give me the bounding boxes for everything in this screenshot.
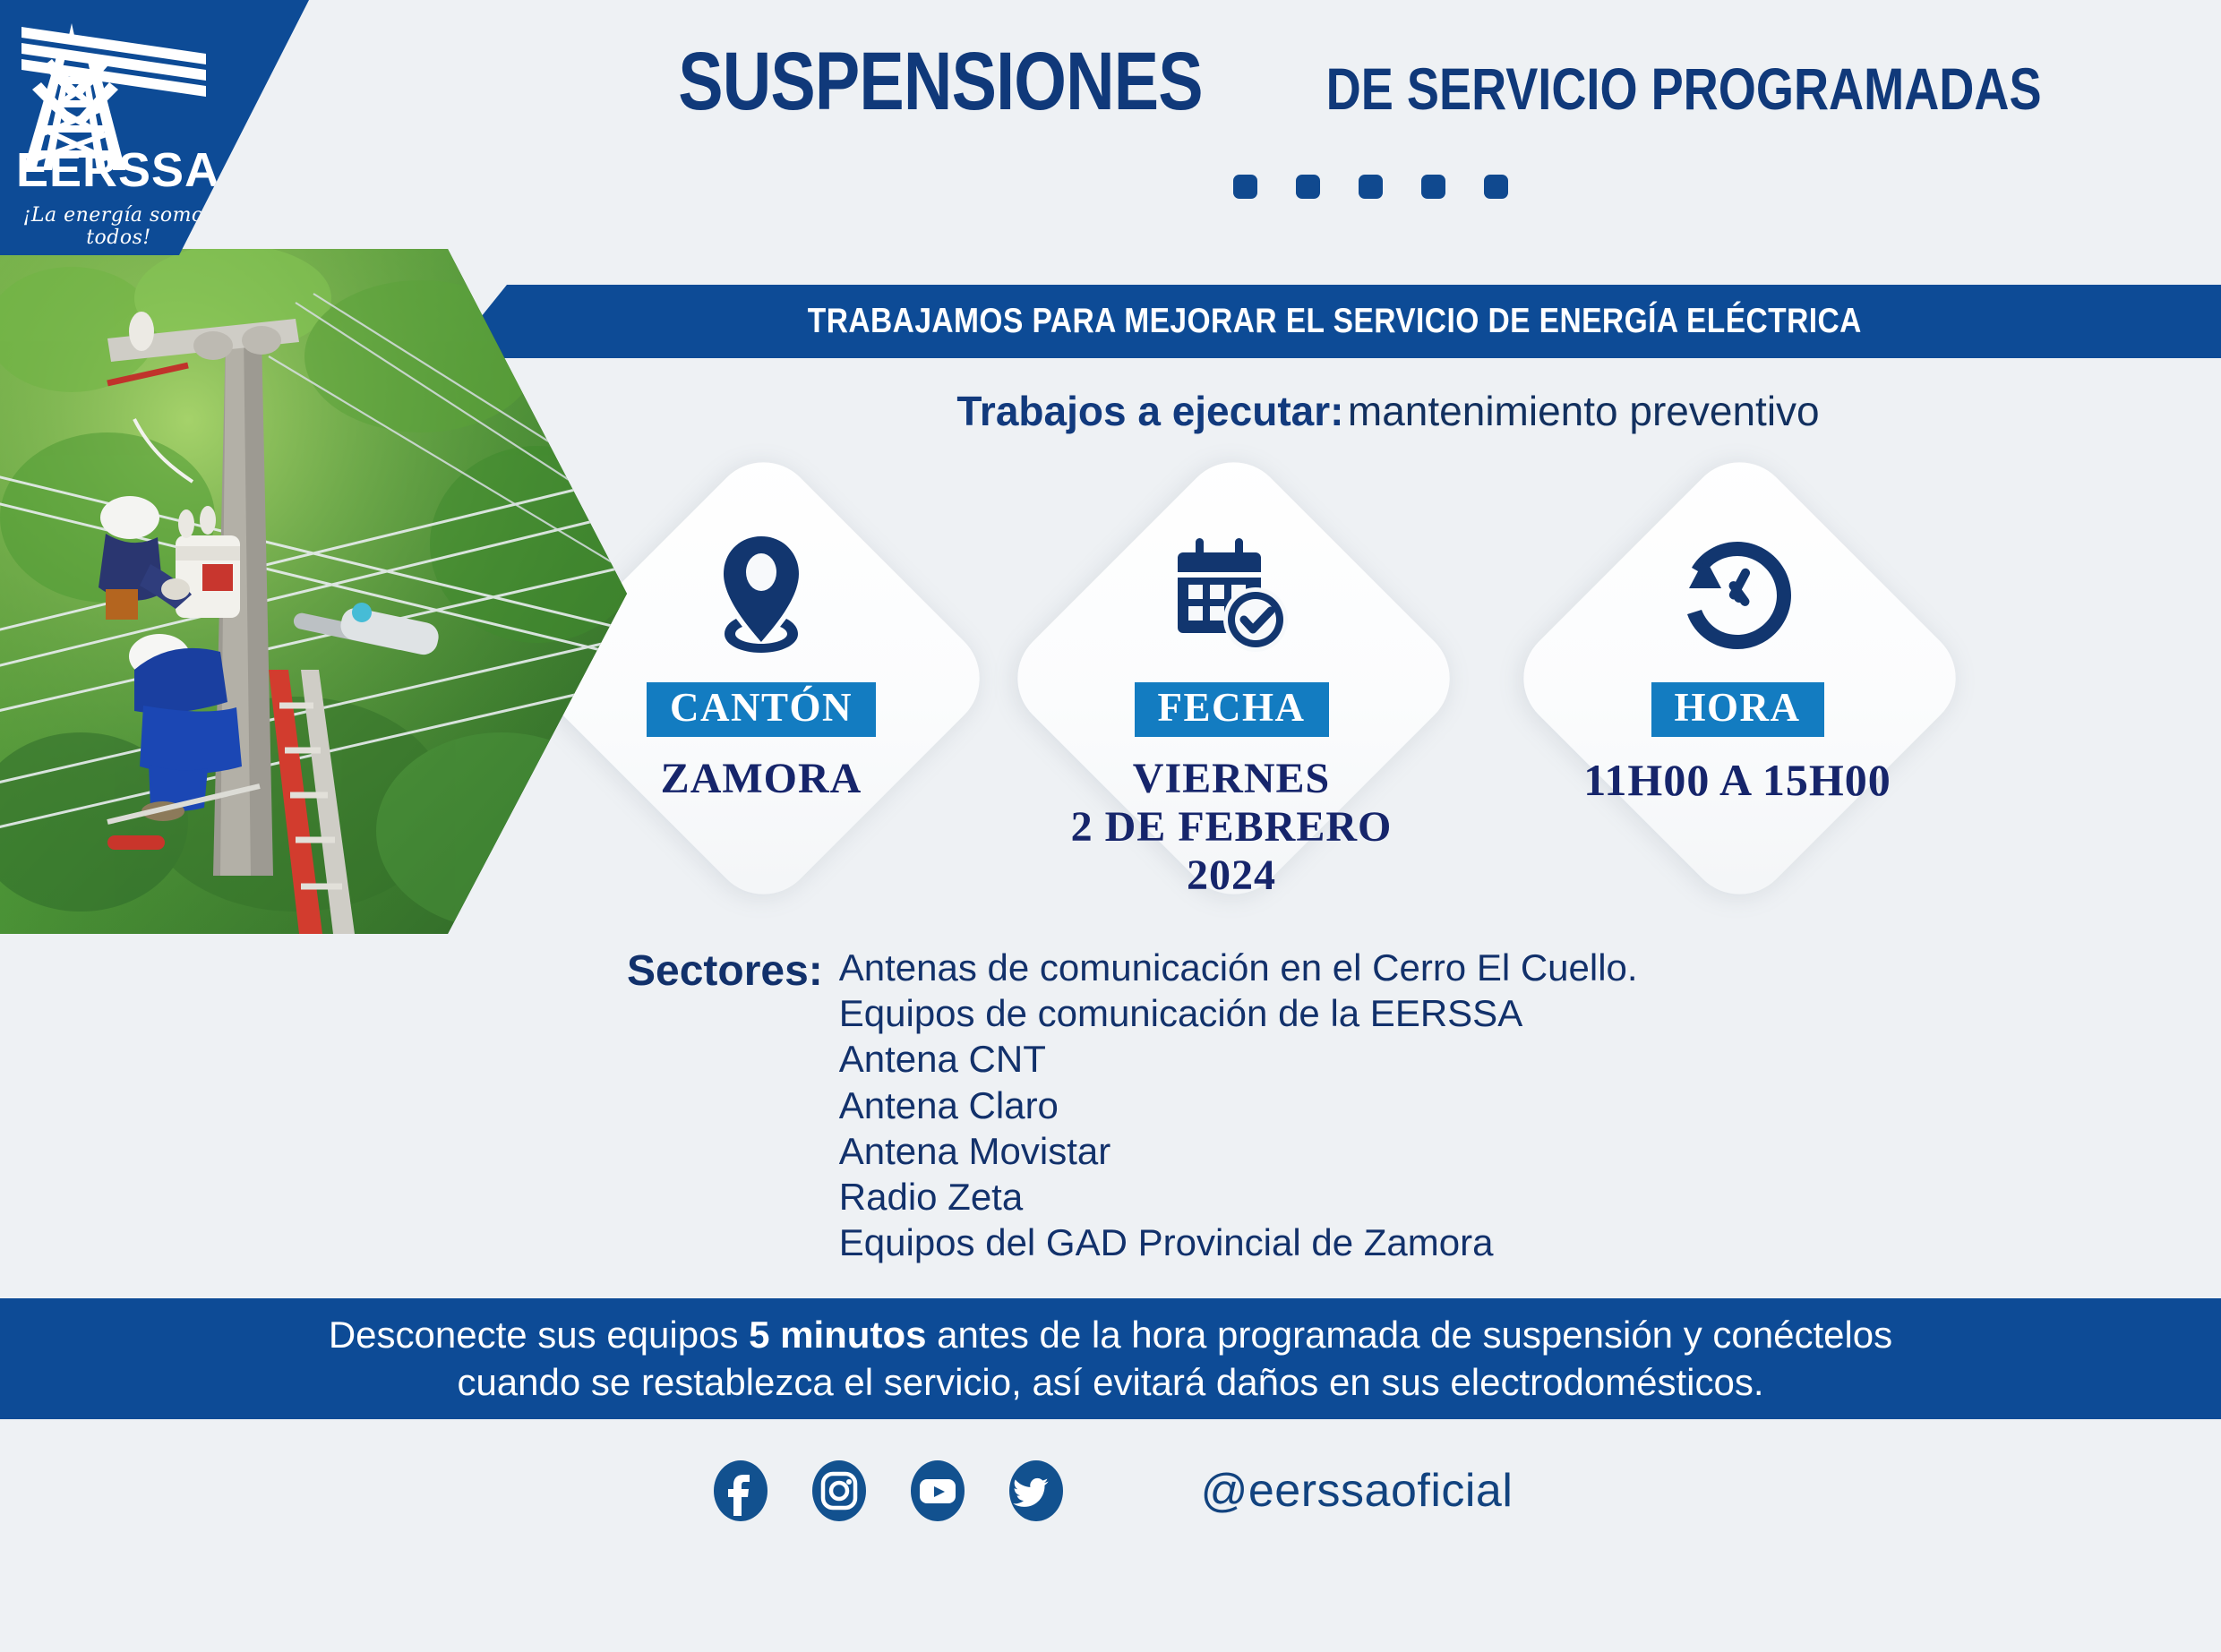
card-fecha: FECHA VIERNES 2 DE FEBRERO 2024	[967, 501, 1451, 985]
twitter-icon[interactable]	[1004, 1459, 1068, 1523]
notice-banner: Desconecte sus equipos 5 minutos antes d…	[0, 1298, 2221, 1419]
card-badge-hora: HORA	[1651, 682, 1824, 737]
social-handle: @eerssaoficial	[1201, 1464, 1514, 1518]
separator-dot	[1233, 175, 1257, 199]
calendar-check-icon	[1169, 528, 1294, 663]
social-bar: @eerssaoficial	[0, 1433, 2221, 1549]
sash-banner: TRABAJAMOS PARA MEJORAR EL SERVICIO DE E…	[448, 285, 2221, 358]
card-badge-fecha: FECHA	[1135, 682, 1329, 737]
sector-item: Antena Movistar	[839, 1128, 1638, 1174]
works-line: Trabajos a ejecutar: mantenimiento preve…	[627, 387, 2149, 435]
sectors-block: Sectores: Antenas de comunicación en el …	[627, 945, 1638, 1266]
card-value-fecha-line: VIERNES	[1071, 755, 1393, 803]
separator-dot	[1421, 175, 1445, 199]
svg-text:EERSSA: EERSSA	[16, 143, 220, 197]
title-dot-separator	[573, 175, 2167, 199]
card-value-hora: 11H00 A 15H00	[1583, 755, 1891, 805]
instagram-icon[interactable]	[807, 1459, 871, 1523]
facebook-icon[interactable]	[708, 1459, 773, 1523]
works-value: mantenimiento preventivo	[1348, 388, 1820, 434]
sector-item: Antena Claro	[839, 1083, 1638, 1128]
sector-item: Antena CNT	[839, 1036, 1638, 1082]
notice-part-c: antes de la hora programada de suspensió…	[926, 1314, 1892, 1356]
notice-highlight: 5 minutos	[749, 1314, 926, 1356]
card-value-fecha-line: 2024	[1071, 852, 1393, 900]
sectors-label: Sectores:	[627, 945, 823, 1266]
poster-canvas: EERSSA ¡La energía somos todos! SUSPENSI…	[0, 0, 2221, 1652]
eerssa-logo-panel: EERSSA ¡La energía somos todos!	[0, 0, 309, 255]
sector-item: Radio Zeta	[839, 1174, 1638, 1220]
card-hora: HORA 11H00 A 15H00	[1482, 501, 1966, 985]
card-value-fecha-line: 2 DE FEBRERO	[1071, 803, 1393, 852]
separator-dot	[1484, 175, 1508, 199]
page-title: SUSPENSIONESDE SERVICIO PROGRAMADAS	[573, 40, 2167, 123]
sector-item: Equipos de comunicación de la EERSSA	[839, 990, 1638, 1036]
transmission-tower-logo-icon: EERSSA	[0, 7, 237, 218]
sectors-list: Antenas de comunicación en el Cerro El C…	[839, 945, 1638, 1266]
card-value-canton: ZAMORA	[661, 755, 862, 803]
logo-tagline: ¡La energía somos todos!	[9, 204, 228, 249]
clock-history-icon	[1675, 528, 1800, 663]
sector-item: Equipos del GAD Provincial de Zamora	[839, 1220, 1638, 1265]
card-badge-canton: CANTÓN	[647, 682, 876, 737]
notice-line-2: cuando se restablezca el servicio, así e…	[457, 1359, 1763, 1407]
youtube-icon[interactable]	[905, 1459, 970, 1523]
works-label: Trabajos a ejecutar:	[956, 388, 1343, 434]
notice-part-a: Desconecte sus equipos	[329, 1314, 749, 1356]
location-pin-icon	[706, 528, 817, 663]
info-cards: CANTÓN ZAMORA	[519, 501, 2221, 967]
sash-banner-text: TRABAJAMOS PARA MEJORAR EL SERVICIO DE E…	[808, 302, 1862, 341]
title-light: DE SERVICIO PROGRAMADAS	[1326, 59, 2042, 118]
notice-line-1: Desconecte sus equipos 5 minutos antes d…	[329, 1312, 1892, 1359]
separator-dot	[1359, 175, 1383, 199]
sector-item: Antenas de comunicación en el Cerro El C…	[839, 945, 1638, 990]
card-value-fecha: VIERNES 2 DE FEBRERO 2024	[1071, 755, 1393, 899]
title-strong: SUSPENSIONES	[678, 40, 1202, 123]
separator-dot	[1296, 175, 1320, 199]
